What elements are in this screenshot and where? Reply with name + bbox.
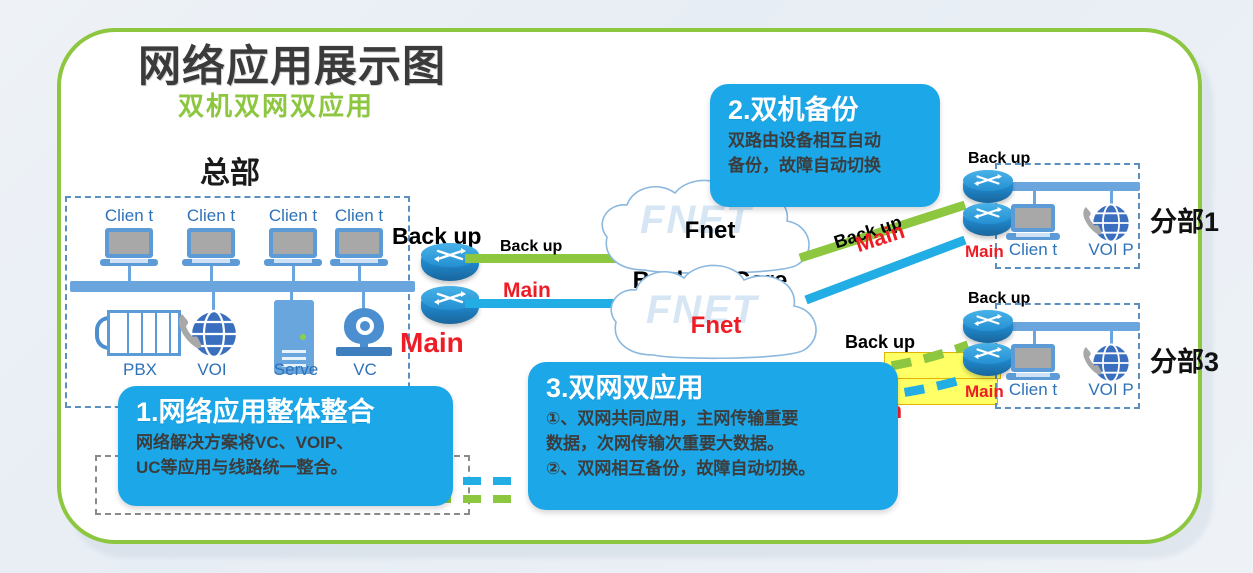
callout-2-body: 双路由设备相互自动 备份，故障自动切换 (728, 128, 922, 178)
voip-label: VOI (182, 361, 242, 378)
vc-label: VC (340, 361, 390, 378)
branch3-lan-bus (1000, 322, 1140, 331)
router-arrows-icon (974, 204, 1002, 222)
branch3-client (1006, 344, 1060, 384)
branch3-voip-label: VOI P (1086, 381, 1136, 398)
laptop-screen (1011, 344, 1055, 372)
pbx-divider (127, 313, 129, 353)
pbx-icon (95, 310, 181, 356)
laptop-screen (335, 228, 383, 258)
laptop-foot (192, 259, 230, 263)
server-vent (282, 350, 306, 353)
callout-3-head: 3.双网双应用 (546, 372, 880, 404)
hq-client-1-label: Clien t (102, 207, 156, 224)
hq-client-2-stem (210, 266, 213, 284)
branch1-title: 分部1 (1150, 200, 1219, 239)
vc-camera-stand (336, 347, 392, 356)
branch1-router-backup-label: Back up (968, 150, 1030, 168)
callout-2[interactable]: 2.双机备份 双路由设备相互自动 备份，故障自动切换 (710, 84, 940, 207)
hq-router-main-label: Main (400, 327, 464, 359)
laptop-foot (340, 259, 378, 263)
laptop-foot (1016, 233, 1050, 237)
pbx-divider (169, 313, 171, 353)
laptop-foot (1016, 373, 1050, 377)
branch1-router-backup (963, 170, 1013, 203)
hq-main-link-label: Main (503, 279, 551, 303)
backup-core-line1: Fnet (685, 217, 736, 244)
branch3-client-stem (1033, 330, 1036, 344)
callout-3-body: ①、双网共同应用，主网传输重要 数据，次网传输次重要大数据。 ②、双网相互备份，… (546, 406, 880, 481)
hq-client-1-stem (128, 266, 131, 284)
pbx-divider (155, 313, 157, 353)
branch1-client-label: Clien t (1007, 241, 1059, 258)
laptop-foot (110, 259, 148, 263)
pbx-label: PBX (110, 361, 170, 378)
branch1-lan-bus (1000, 182, 1140, 191)
router-arrows-icon (974, 171, 1002, 189)
pbx-divider (141, 313, 143, 353)
hq-client-3-label: Clien t (266, 207, 320, 224)
callout-3[interactable]: 3.双网双应用 ①、双网共同应用，主网传输重要 数据，次网传输次重要大数据。 ②… (528, 362, 898, 510)
server-led (300, 334, 306, 340)
vc-camera-lens (356, 317, 374, 335)
diagram-canvas: 网络应用展示图 双机双网双应用 总部 Clien t Clien t Clien… (0, 0, 1253, 573)
router-arrows-icon (974, 311, 1002, 329)
hq-lan-bus (70, 281, 415, 292)
branch3-router-backup (963, 310, 1013, 343)
hq-client-4-label: Clien t (332, 207, 386, 224)
callout-1[interactable]: 1.网络应用整体整合 网络解决方案将VC、VOIP、 UC等应用与线路统一整合。 (118, 386, 453, 506)
hq-client-2-label: Clien t (184, 207, 238, 224)
branch3-router-main-label: Main (965, 382, 1004, 402)
page-title: 网络应用展示图 (138, 32, 446, 94)
router-arrows-icon (434, 245, 466, 265)
hq-client-4-stem (358, 266, 361, 284)
server-label: Serve (266, 361, 326, 378)
branch3-title: 分部3 (1150, 340, 1219, 379)
branch3-router-backup-label: Back up (968, 290, 1030, 308)
branch1-phone-handset-icon (1081, 205, 1102, 238)
branch3-client-label: Clien t (1007, 381, 1059, 398)
branch3-backup-label: Back up (845, 332, 915, 353)
router-arrows-icon (434, 288, 466, 308)
hq-client-3-stem (292, 266, 295, 284)
page-subtitle: 双机双网双应用 (178, 86, 374, 123)
hq-backup-link-label: Back up (500, 238, 562, 256)
callout-1-body: 网络解决方案将VC、VOIP、 UC等应用与线路统一整合。 (136, 430, 435, 480)
laptop-screen (105, 228, 153, 258)
router-arrows-icon (974, 344, 1002, 362)
vc-camera-icon (336, 308, 392, 358)
branch1-client-stem (1033, 190, 1036, 204)
laptop-foot (274, 259, 312, 263)
headquarters-title: 总部 (200, 148, 260, 192)
laptop-screen (187, 228, 235, 258)
branch1-client (1006, 204, 1060, 244)
branch1-router-main-label: Main (965, 242, 1004, 262)
branch3-phone-handset-icon (1081, 345, 1102, 378)
callout-2-head: 2.双机备份 (728, 94, 922, 126)
branch1-voip-label: VOI P (1086, 241, 1136, 258)
callout-1-head: 1.网络应用整体整合 (136, 396, 435, 428)
phone-handset-icon (176, 312, 202, 352)
main-core-line1: Fnet (691, 312, 742, 339)
laptop-screen (1011, 204, 1055, 232)
laptop-screen (269, 228, 317, 258)
